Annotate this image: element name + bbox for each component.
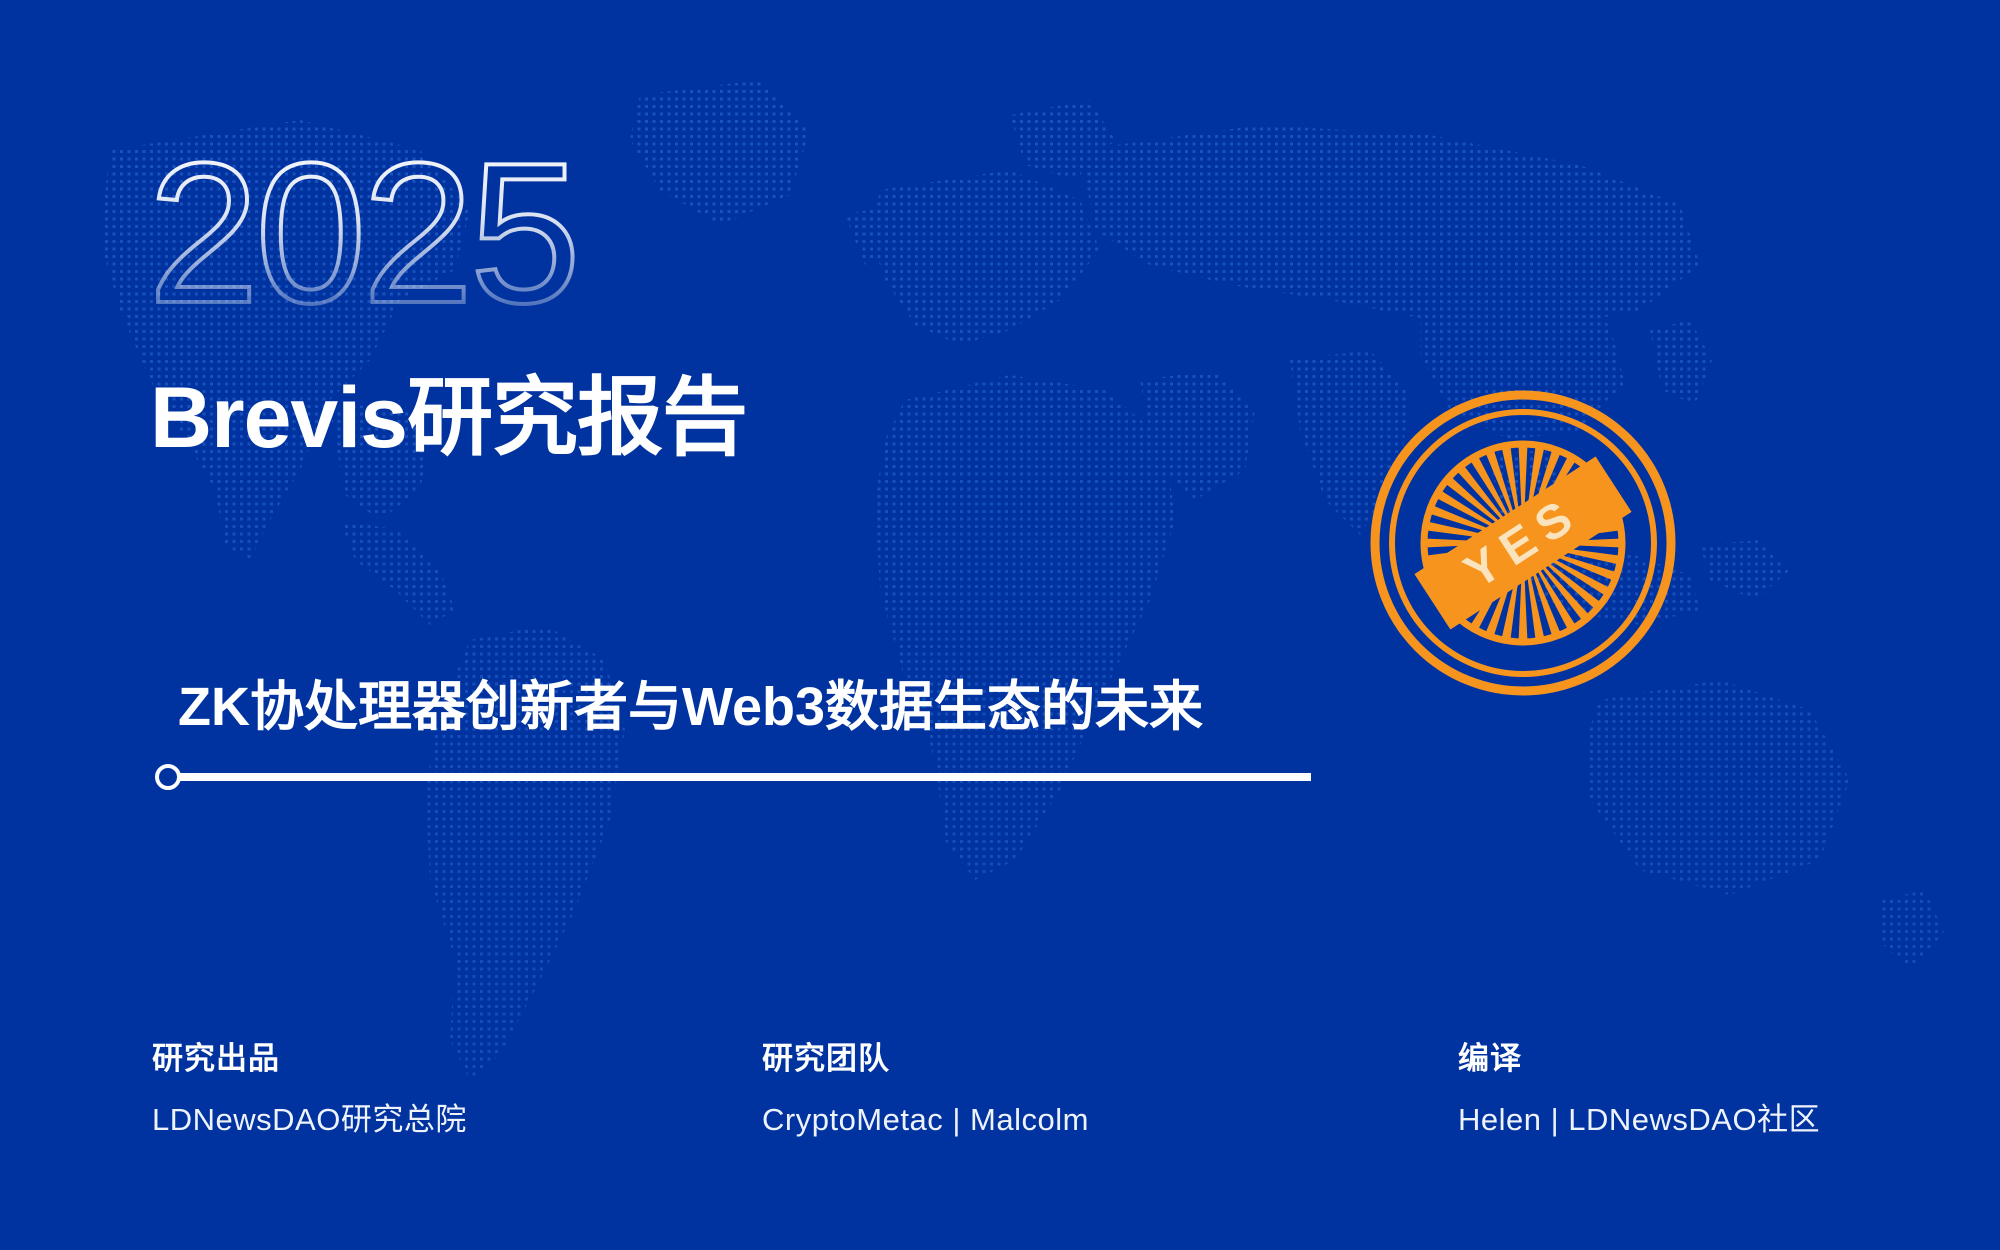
credit-column-translation: 编译 Helen | LDNewsDAO社区 <box>1458 1040 1820 1138</box>
credit-label: 研究出品 <box>152 1040 467 1077</box>
credits-row: 研究出品 LDNewsDAO研究总院 研究团队 CryptoMetac | Ma… <box>0 1040 2000 1180</box>
circle-marker-icon <box>155 764 181 790</box>
page-title: Brevis研究报告 <box>150 372 747 465</box>
credit-value: Helen | LDNewsDAO社区 <box>1458 1101 1820 1138</box>
divider-line <box>179 773 1311 781</box>
year-glyphs: 2025 <box>148 122 577 345</box>
credit-label: 编译 <box>1458 1040 1820 1077</box>
divider-rule <box>155 762 1311 792</box>
year-outline: 2025 <box>148 152 848 332</box>
yes-stamp-badge: YES <box>1368 388 1678 698</box>
credit-value: CryptoMetac | Malcolm <box>762 1101 1089 1138</box>
cover-slide: 2025 Brevis研究报告 ZK协处理器创新者与Web3数据生态的未来 <box>0 0 2000 1250</box>
credit-column-team: 研究团队 CryptoMetac | Malcolm <box>762 1040 1089 1138</box>
credit-column-producer: 研究出品 LDNewsDAO研究总院 <box>152 1040 467 1138</box>
page-subtitle: ZK协处理器创新者与Web3数据生态的未来 <box>178 676 1203 738</box>
credit-label: 研究团队 <box>762 1040 1089 1077</box>
credit-value: LDNewsDAO研究总院 <box>152 1101 467 1138</box>
